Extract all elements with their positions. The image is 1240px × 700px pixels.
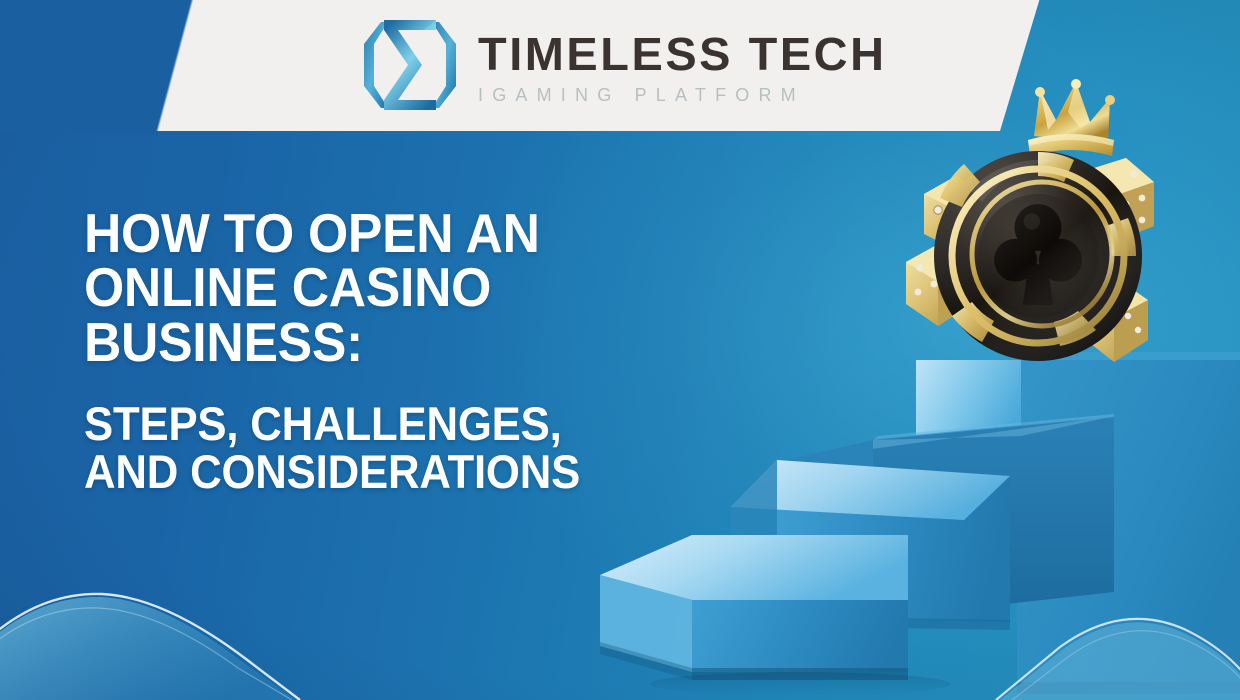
subhead-line-1: STEPS, CHALLENGES, (84, 400, 679, 448)
hourglass-brackets-icon (358, 14, 462, 116)
brand-logo[interactable]: TIMELESS TECH IGAMING PLATFORM (358, 14, 879, 116)
stair-step-1 (600, 535, 908, 680)
page-title: HOW TO OPEN AN ONLINE CASINO BUSINESS: (84, 206, 686, 369)
promo-banner: TIMELESS TECH IGAMING PLATFORM (0, 0, 1240, 700)
headline-line-1: HOW TO OPEN AN (84, 206, 686, 260)
poker-chip (934, 151, 1142, 361)
brand-logo-text: TIMELESS TECH IGAMING PLATFORM (478, 27, 879, 104)
stair-floor-shadow (650, 672, 950, 696)
subhead-line-2: AND CONSIDERATIONS (84, 448, 679, 496)
brand-name: TIMELESS TECH (478, 31, 887, 77)
headline-block: HOW TO OPEN AN ONLINE CASINO BUSINESS: S… (84, 206, 724, 496)
page-subtitle: STEPS, CHALLENGES, AND CONSIDERATIONS (84, 400, 679, 496)
casino-chip-with-crown-and-dice (900, 78, 1172, 368)
headline-line-2: ONLINE CASINO (84, 260, 686, 314)
headline-line-3: BUSINESS: (84, 315, 686, 369)
brand-tagline: IGAMING PLATFORM (478, 86, 879, 104)
gold-crown-icon (1028, 79, 1115, 156)
